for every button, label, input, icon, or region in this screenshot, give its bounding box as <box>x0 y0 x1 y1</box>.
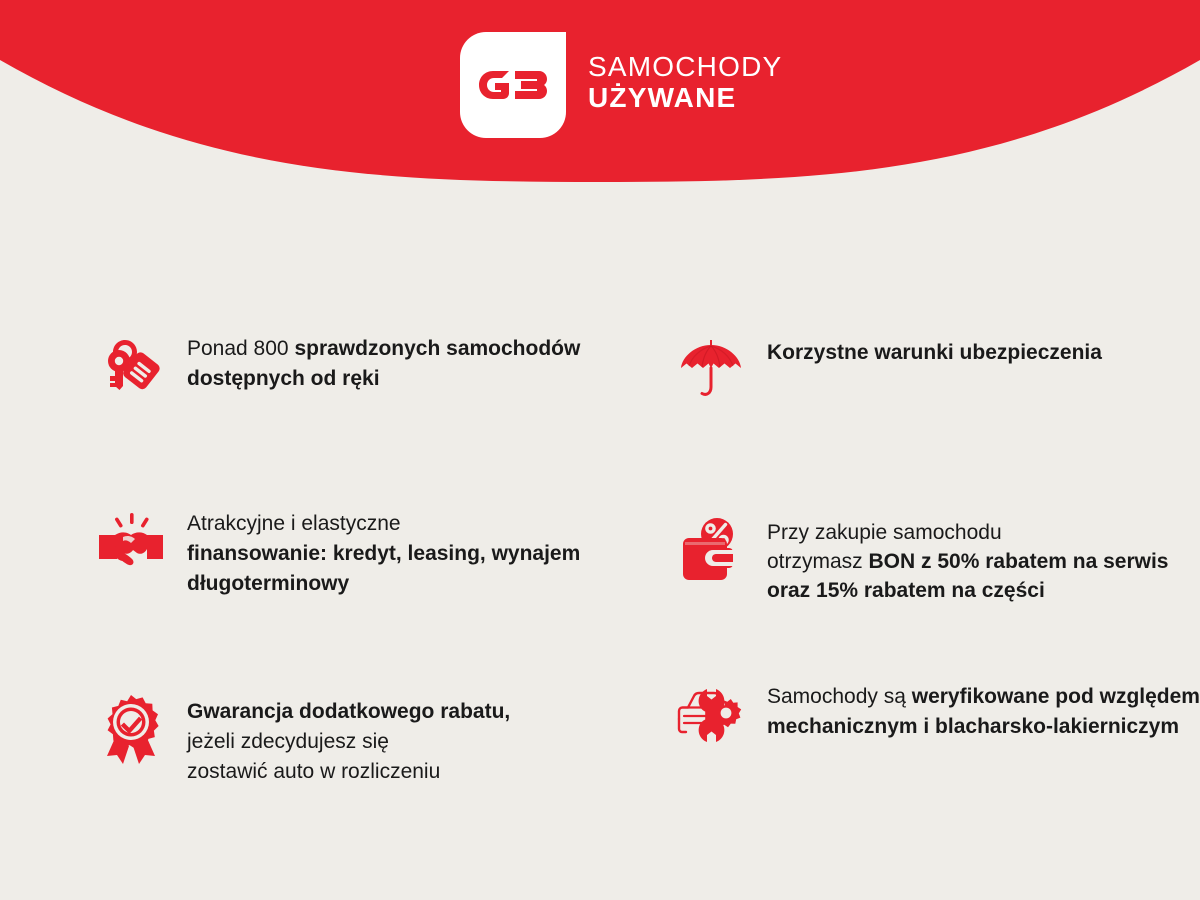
feature-item-financing: Atrakcyjne i elastycznefinansowanie: kre… <box>95 505 655 605</box>
feature-item-insurance: Korzystne warunki ubezpieczenia <box>675 334 1200 434</box>
feature-text-voucher-discount: Przy zakupie samochoduotrzymasz BON z 50… <box>767 515 1200 606</box>
feature-item-stock: Ponad 800 sprawdzonych samochodów dostęp… <box>95 330 655 430</box>
feature-text-insurance: Korzystne warunki ubezpieczenia <box>767 334 1102 368</box>
brand-logo[interactable]: SAMOCHODY UŻYWANE <box>460 32 782 138</box>
feature-text-inspection: Samochody są weryfikowane pod względem m… <box>767 678 1200 742</box>
feature-list: Ponad 800 sprawdzonych samochodów dostęp… <box>0 330 1200 836</box>
feature-column-right: Korzystne warunki ubezpieczenia <box>675 330 1200 836</box>
brand-name-line-1: SAMOCHODY <box>588 53 782 82</box>
feature-item-trade-in-guarantee: Gwarancja dodatkowego rabatu,jeżeli zdec… <box>95 693 655 793</box>
feature-column-left: Ponad 800 sprawdzonych samochodów dostęp… <box>95 330 655 836</box>
feature-text-financing: Atrakcyjne i elastycznefinansowanie: kre… <box>187 505 627 598</box>
feature-text-stock: Ponad 800 sprawdzonych samochodów dostęp… <box>187 330 627 394</box>
page-header: SAMOCHODY UŻYWANE <box>0 0 1200 200</box>
car-wrench-gear-icon <box>675 678 747 750</box>
feature-item-inspection: Samochody są weryfikowane pod względem m… <box>675 678 1200 778</box>
brand-wordmark: SAMOCHODY UŻYWANE <box>588 53 782 116</box>
brand-name-line-2: UŻYWANE <box>588 84 782 113</box>
feature-item-voucher-discount: Przy zakupie samochoduotrzymasz BON z 50… <box>675 515 1200 615</box>
feature-text-trade-in-guarantee: Gwarancja dodatkowego rabatu,jeżeli zdec… <box>187 693 510 786</box>
award-badge-check-icon <box>95 693 167 765</box>
handshake-icon <box>95 505 167 577</box>
wallet-percent-icon <box>675 515 747 587</box>
gb-monogram-icon <box>477 65 549 105</box>
gb-logo-mark <box>460 32 566 138</box>
umbrella-icon <box>675 334 747 406</box>
car-key-icon <box>95 330 167 402</box>
